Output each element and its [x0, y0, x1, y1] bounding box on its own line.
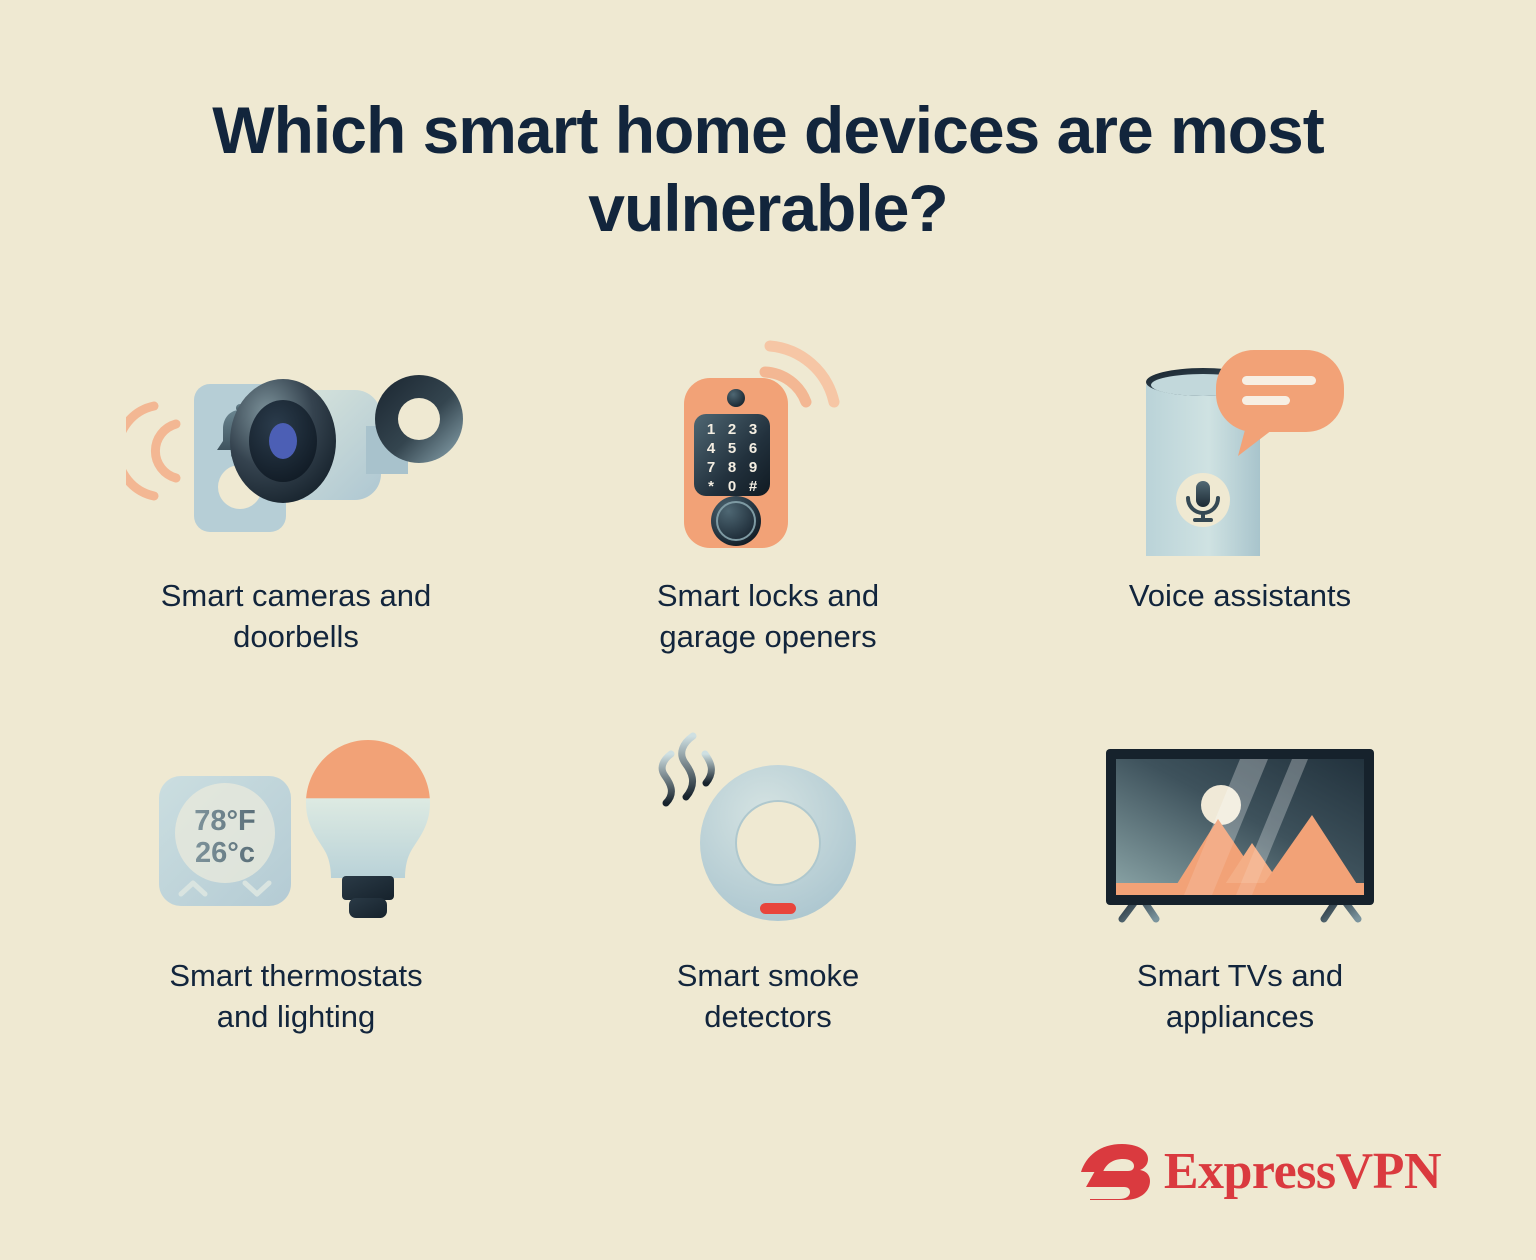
- device-label: Smart cameras and doorbells: [161, 575, 432, 657]
- smart-lock-svg: 123 456 789 *0#: [658, 330, 878, 575]
- device-grid: Smart cameras and doorbells: [60, 330, 1476, 1060]
- device-label: Smart TVs and appliances: [1137, 955, 1343, 1037]
- device-label: Smart thermostats and lighting: [169, 955, 422, 1037]
- page-title: Which smart home devices are most vulner…: [0, 92, 1536, 248]
- svg-text:7: 7: [707, 459, 715, 476]
- thermostat-bulb-icon: 78°F 26°c: [60, 710, 532, 955]
- svg-text:#: #: [749, 478, 758, 495]
- expressvpn-logo-mark: [1078, 1142, 1150, 1202]
- svg-text:8: 8: [728, 459, 736, 476]
- smart-tv-svg: [1100, 743, 1380, 923]
- svg-text:1: 1: [707, 421, 715, 438]
- smart-lock-icon: 123 456 789 *0#: [532, 330, 1004, 575]
- device-card-smart-cameras-doorbells: Smart cameras and doorbells: [60, 330, 532, 680]
- status-led: [760, 903, 796, 914]
- voice-assistant-icon: [1004, 330, 1476, 575]
- svg-text:2: 2: [728, 421, 736, 438]
- camera-doorbell-icon: [60, 330, 532, 575]
- svg-text:5: 5: [728, 440, 736, 457]
- device-card-smart-locks-garage-openers: 123 456 789 *0# Smart locks and garage o…: [532, 330, 1004, 680]
- device-card-smart-thermostats-lighting: 78°F 26°c Smart thermostats and lighting: [60, 710, 532, 1060]
- smoke-detector-svg: [648, 725, 888, 940]
- smoke-detector-icon: [532, 710, 1004, 955]
- camera-doorbell-svg: [126, 348, 466, 558]
- thermostat-fahrenheit: 78°F: [194, 805, 256, 837]
- svg-text:3: 3: [749, 421, 757, 438]
- smart-tv-icon: [1004, 710, 1476, 955]
- device-label: Smart locks and garage openers: [657, 575, 879, 657]
- device-label: Smart smoke detectors: [677, 955, 860, 1037]
- expressvpn-logo-text: ExpressVPN: [1164, 1146, 1441, 1198]
- thermostat-bulb-svg: 78°F 26°c: [151, 728, 441, 938]
- svg-text:0: 0: [728, 478, 736, 495]
- wifi-waves-icon: [126, 406, 176, 496]
- device-card-smart-tvs-appliances: Smart TVs and appliances: [1004, 710, 1476, 1060]
- voice-assistant-svg: [1120, 338, 1360, 568]
- expressvpn-logo[interactable]: ExpressVPN: [1078, 1142, 1441, 1202]
- svg-text:4: 4: [707, 440, 716, 457]
- thermostat-celsius: 26°c: [195, 837, 255, 869]
- svg-text:6: 6: [749, 440, 757, 457]
- svg-text:*: *: [708, 478, 714, 495]
- device-card-smart-smoke-detectors: Smart smoke detectors: [532, 710, 1004, 1060]
- device-card-voice-assistants: Voice assistants: [1004, 330, 1476, 680]
- device-label: Voice assistants: [1129, 575, 1351, 616]
- smoke-wisps-icon: [662, 736, 711, 803]
- infographic-page: Which smart home devices are most vulner…: [0, 0, 1536, 1260]
- svg-text:9: 9: [749, 459, 757, 476]
